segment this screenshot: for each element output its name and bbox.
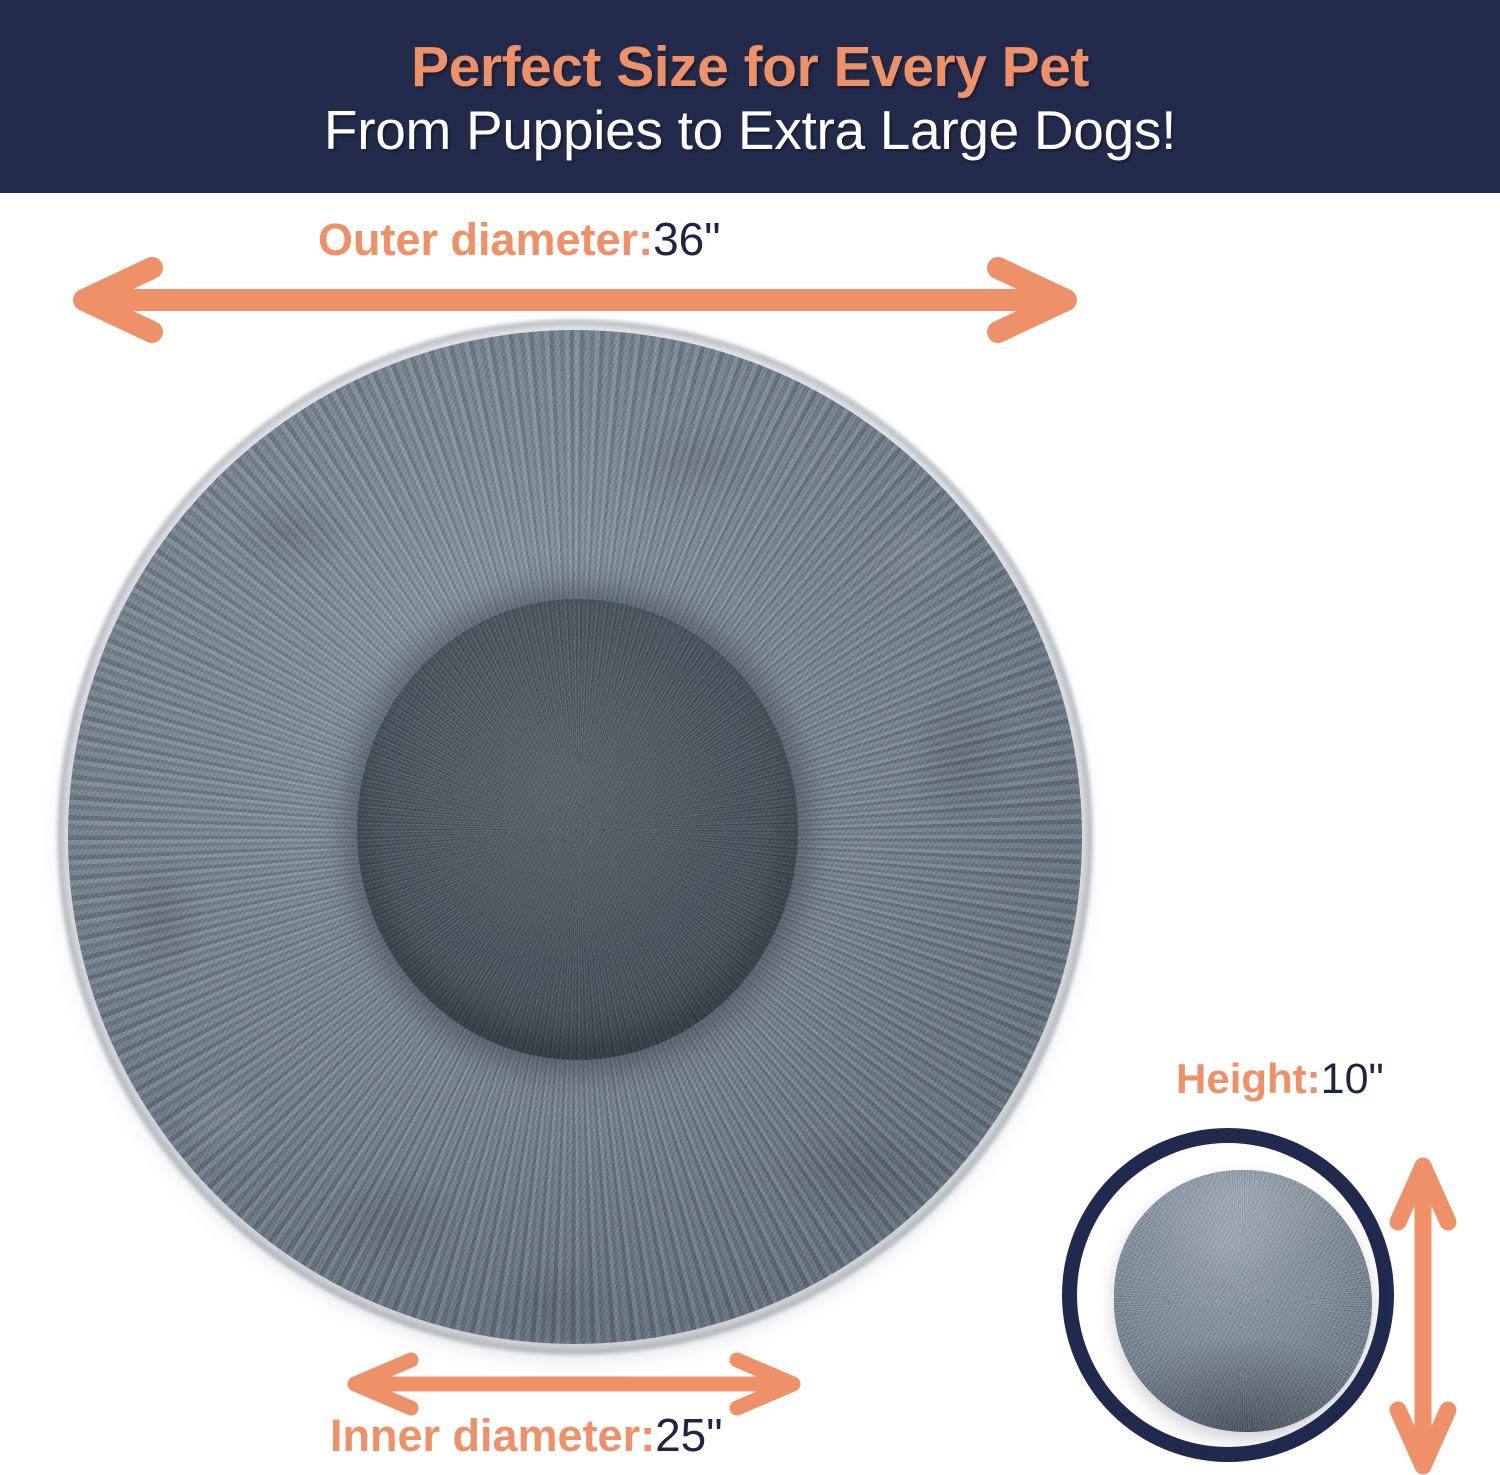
- inner-diameter-arrow-icon: [345, 1356, 803, 1412]
- pet-bed-outer-rim: [68, 330, 1082, 1344]
- inner-diameter-value: 25": [655, 1409, 723, 1461]
- height-arrow-icon: [1392, 1156, 1454, 1475]
- height-value: 10": [1321, 1055, 1384, 1103]
- height-term: Height:: [1176, 1055, 1321, 1102]
- inner-cushion-fringe: [357, 599, 798, 1060]
- header-banner: Perfect Size for Every Pet From Puppies …: [0, 0, 1500, 193]
- infographic-canvas: Perfect Size for Every Pet From Puppies …: [0, 0, 1500, 1475]
- outer-diameter-value: 36": [653, 213, 721, 265]
- outer-diameter-label: Outer diameter:36": [318, 216, 721, 262]
- pet-bed-side-view-inset: [1062, 1128, 1394, 1462]
- inset-shading: [1114, 1170, 1372, 1432]
- pet-bed-top-view: [68, 330, 1082, 1344]
- outer-diameter-arrow-icon: [68, 262, 1082, 338]
- inner-diameter-term: Inner diameter:: [330, 1410, 655, 1461]
- outer-diameter-term: Outer diameter:: [318, 214, 653, 265]
- inner-diameter-label: Inner diameter:25": [330, 1412, 723, 1458]
- height-label: Height:10": [1176, 1058, 1384, 1101]
- banner-subtitle: From Puppies to Extra Large Dogs!: [324, 102, 1176, 160]
- pet-bed-side-view: [1114, 1170, 1372, 1432]
- pet-bed-inner-cushion: [357, 599, 798, 1060]
- banner-title: Perfect Size for Every Pet: [411, 38, 1089, 96]
